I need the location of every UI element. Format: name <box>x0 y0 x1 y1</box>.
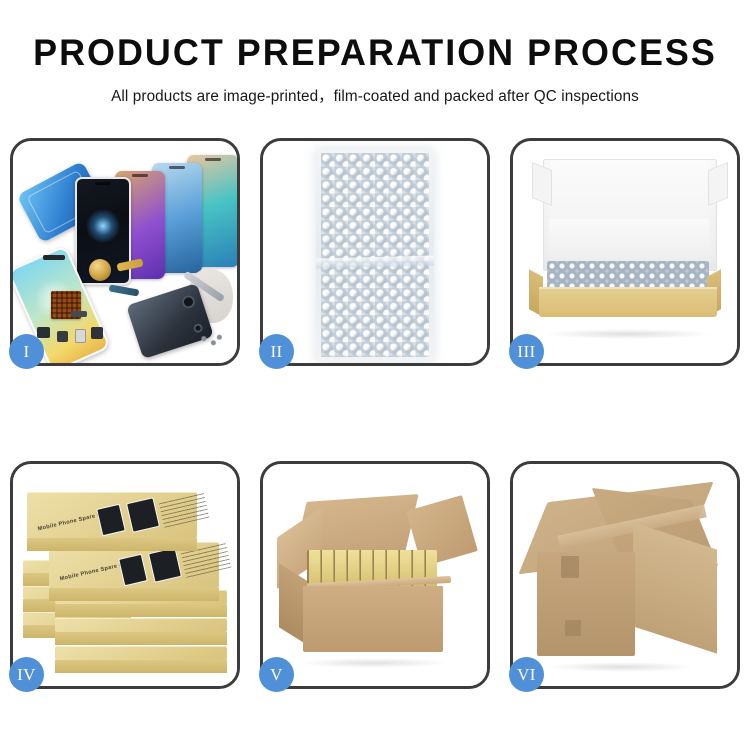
step-panel-6: VI <box>510 461 740 689</box>
phone-display-fan-icon <box>75 153 235 273</box>
small-part-2-icon <box>57 331 68 342</box>
kraft-box-printed-1: Mobile Phone Spare Parts <box>27 492 197 538</box>
step-badge-1: I <box>9 334 44 369</box>
flex-cable-2-icon <box>109 284 140 296</box>
step-badge-3: III <box>509 334 544 369</box>
small-part-5-icon <box>71 311 87 317</box>
stacked-boxes-icon: Mobile Phone Spare Parts Mobile Phone Sp… <box>21 486 235 676</box>
step-panel-1: I <box>10 138 240 366</box>
step-5-image <box>263 464 487 686</box>
carton-tape-tab-2 <box>565 620 581 636</box>
header: PRODUCT PREPARATION PROCESS All products… <box>0 0 750 106</box>
step-2-image <box>263 141 487 363</box>
step-6-image <box>513 464 737 686</box>
step-panel-3: III <box>510 138 740 366</box>
step-panel-5: V <box>260 461 490 689</box>
process-steps-grid: I II III <box>10 138 740 689</box>
step-badge-6: VI <box>509 657 544 692</box>
sealed-carton-front-wall <box>537 552 635 656</box>
step-badge-4: IV <box>9 657 44 692</box>
step-4-image: Mobile Phone Spare Parts Mobile Phone Sp… <box>13 464 237 686</box>
camera-lens-icon <box>180 294 196 310</box>
product-preparation-infographic: PRODUCT PREPARATION PROCESS All products… <box>0 0 750 750</box>
step-1-image <box>13 141 237 363</box>
kraft-box-slab-6 <box>55 646 227 660</box>
step-panel-4: Mobile Phone Spare Parts Mobile Phone Sp… <box>10 461 240 689</box>
step-badge-2: II <box>259 334 294 369</box>
foam-liner-icon <box>549 219 709 267</box>
small-part-3-icon <box>75 329 86 343</box>
speaker-module-icon <box>43 255 65 260</box>
carton-shadow <box>299 658 449 668</box>
page-title: PRODUCT PREPARATION PROCESS <box>11 34 739 71</box>
page-subtitle: All products are image-printed，film-coat… <box>0 84 750 106</box>
sealed-carton-shadow <box>547 662 697 672</box>
small-part-1-icon <box>37 327 50 338</box>
step-3-image <box>513 141 737 363</box>
small-part-4-icon <box>91 327 103 339</box>
step-panel-2: II <box>260 138 490 366</box>
box-shadow <box>543 329 713 339</box>
step-badge-5: V <box>259 657 294 692</box>
copper-coil-icon <box>89 259 111 281</box>
carton-tape-tab-1 <box>561 556 579 578</box>
box-front-wall <box>539 287 717 317</box>
bubble-wrap-icon <box>316 149 434 361</box>
carton-front-wall <box>303 586 443 652</box>
screws-icon <box>199 333 223 347</box>
kraft-box-slab-5 <box>55 618 227 632</box>
